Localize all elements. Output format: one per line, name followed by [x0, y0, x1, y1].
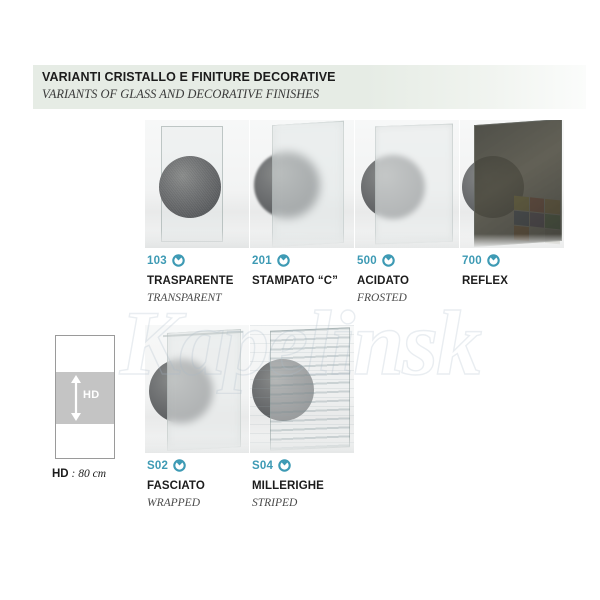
wrapped-glass-photo — [145, 325, 249, 453]
finish-card-103[interactable]: 103 TRASPARENTE TRANSPARENT — [145, 120, 249, 248]
finish-name-en: TRANSPARENT — [147, 292, 222, 304]
finish-card-s04[interactable]: S04 MILLERIGHE STRIPED — [250, 325, 354, 453]
striped-glass-photo — [250, 325, 354, 453]
finish-card-201[interactable]: 201 STAMPATO “C” — [250, 120, 354, 248]
finish-name-it: TRASPARENTE — [147, 275, 234, 287]
finish-name-it: ACIDATO — [357, 275, 409, 287]
double-arrow-vertical-icon — [69, 374, 83, 422]
finish-code: S04 — [252, 460, 273, 472]
frosted-glass-photo — [355, 120, 459, 248]
finish-name-it: FASCIATO — [147, 480, 205, 492]
finish-name-en: STRIPED — [252, 497, 297, 509]
finish-code-row: S02 — [147, 459, 186, 472]
page-title: VARIANTI CRISTALLO E FINITURE DECORATIVE — [42, 70, 336, 84]
hd-caption-value: 80 cm — [78, 468, 106, 480]
hd-height-diagram: HD — [55, 335, 115, 459]
hd-caption-sep: : — [69, 468, 79, 480]
finish-code-row: 201 — [252, 254, 290, 267]
finish-code: 700 — [462, 255, 482, 267]
finish-code-row: 700 — [462, 254, 500, 267]
finish-code: 103 — [147, 255, 167, 267]
finish-name-it: MILLERIGHE — [252, 480, 324, 492]
hd-caption: HD : 80 cm — [52, 468, 106, 480]
glass-ring-icon — [487, 254, 500, 267]
glass-ring-icon — [173, 459, 186, 472]
reflex-glass-photo — [460, 120, 564, 248]
glass-ring-icon — [278, 459, 291, 472]
finish-code-row: 103 — [147, 254, 185, 267]
section-header-band: VARIANTI CRISTALLO E FINITURE DECORATIVE… — [33, 65, 586, 109]
glass-ring-icon — [172, 254, 185, 267]
transparent-glass-photo — [145, 120, 249, 248]
page-subtitle: VARIANTS OF GLASS AND DECORATIVE FINISHE… — [42, 87, 319, 102]
hd-caption-key: HD — [52, 468, 69, 480]
finish-name-it: REFLEX — [462, 275, 508, 287]
glass-ring-icon — [382, 254, 395, 267]
finish-name-en: WRAPPED — [147, 497, 200, 509]
finish-code: 500 — [357, 255, 377, 267]
finish-card-s02[interactable]: S02 FASCIATO WRAPPED — [145, 325, 249, 453]
printed-c-glass-photo — [250, 120, 354, 248]
finish-code: 201 — [252, 255, 272, 267]
glass-ring-icon — [277, 254, 290, 267]
hd-band-label: HD — [83, 389, 100, 401]
finish-code-row: 500 — [357, 254, 395, 267]
finish-name-en: FROSTED — [357, 292, 407, 304]
finish-card-700[interactable]: 700 REFLEX — [460, 120, 564, 248]
finish-name-it: STAMPATO “C” — [252, 275, 338, 287]
finish-code-row: S04 — [252, 459, 291, 472]
finish-code: S02 — [147, 460, 168, 472]
finish-card-500[interactable]: 500 ACIDATO FROSTED — [355, 120, 459, 248]
